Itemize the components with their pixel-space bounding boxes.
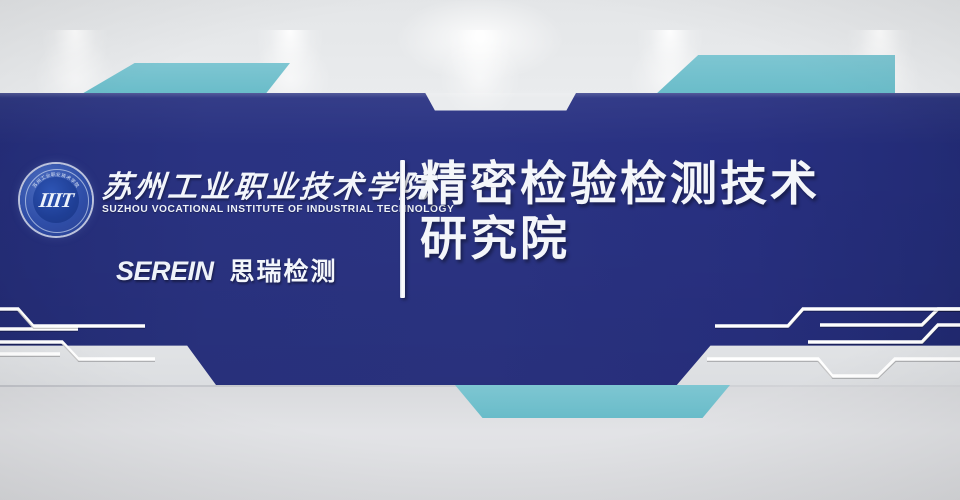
school-name-chinese: 苏州工业职业技术学院	[100, 162, 434, 206]
institute-title: 精密检验检测技术 研究院	[420, 157, 950, 267]
school-logo-block: 苏州工业职业技术学院 IIIT 苏州工业职业技术学院 SUZHOU VOCATI…	[14, 158, 399, 303]
vertical-divider	[400, 160, 405, 298]
serein-wordmark: SEREIN	[116, 256, 214, 287]
school-emblem-icon: 苏州工业职业技术学院 IIIT	[20, 164, 92, 236]
emblem-monogram: IIIT	[30, 177, 82, 223]
institute-title-line-2: 研究院	[420, 212, 950, 267]
institute-title-line-1: 精密检验检测技术	[420, 157, 950, 212]
teal-shape-bottom	[455, 385, 730, 418]
serein-brand-lockup: SEREIN 思瑞检测	[116, 252, 338, 288]
signage-scene: 苏州工业职业技术学院 IIIT 苏州工业职业技术学院 SUZHOU VOCATI…	[0, 0, 960, 500]
serein-wordmark-chinese: 思瑞检测	[230, 252, 338, 288]
